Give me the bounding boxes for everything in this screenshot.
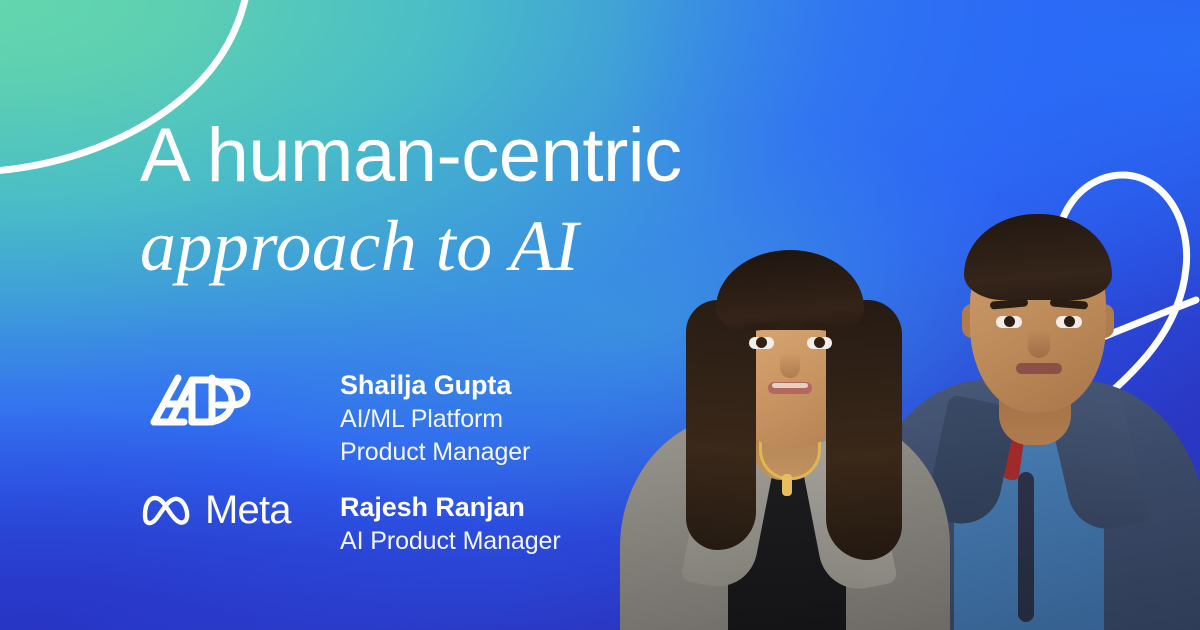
meta-logo: Meta — [140, 490, 291, 530]
speaker-name: Rajesh Ranjan — [340, 490, 610, 525]
logo-cell-meta: Meta — [140, 490, 340, 530]
speaker-info-shailja-gupta: Shailja Gupta AI/ML Platform Product Man… — [340, 368, 610, 469]
speaker-title-line-1: AI/ML Platform — [340, 403, 610, 436]
headline: A human-centric approach to AI — [140, 118, 900, 287]
promo-banner: A human-centric approach to AI — [0, 0, 1200, 630]
speaker-row-rajesh-ranjan: Meta Rajesh Ranjan AI Product Manager — [140, 490, 610, 594]
speaker-list: Shailja Gupta AI/ML Platform Product Man… — [140, 368, 610, 594]
headline-line-1: A human-centric — [140, 118, 900, 194]
meta-wordmark: Meta — [205, 490, 291, 530]
speaker-row-shailja-gupta: Shailja Gupta AI/ML Platform Product Man… — [140, 368, 610, 472]
speaker-info-rajesh-ranjan: Rajesh Ranjan AI Product Manager — [340, 490, 610, 558]
headline-line-2: approach to AI — [140, 206, 900, 287]
logo-cell-adp — [140, 368, 340, 428]
adp-logo-icon — [140, 372, 264, 428]
banner-content: A human-centric approach to AI — [0, 0, 1200, 630]
meta-infinity-icon — [140, 493, 192, 527]
speaker-title-line-2: Product Manager — [340, 436, 610, 469]
speaker-title-line-1: AI Product Manager — [340, 525, 610, 558]
speaker-name: Shailja Gupta — [340, 368, 610, 403]
